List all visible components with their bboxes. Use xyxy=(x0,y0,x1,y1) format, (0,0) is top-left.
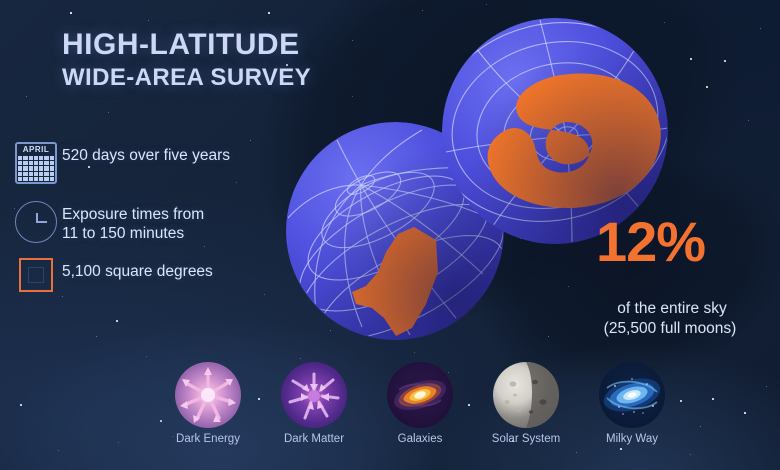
star xyxy=(268,12,270,14)
fact-row-duration: APRIL 520 days over five years xyxy=(10,142,310,184)
star xyxy=(70,12,72,14)
science-target-label: Solar System xyxy=(488,433,564,445)
star xyxy=(20,404,22,406)
star xyxy=(680,400,682,402)
science-target-dark-matter: Dark Matter xyxy=(276,362,352,445)
fact-icon-wrap xyxy=(10,258,62,292)
science-target-galaxies: Galaxies xyxy=(382,362,458,445)
star xyxy=(620,448,622,450)
infographic-canvas: HIGH-LATITUDE WIDE-AREA SURVEY APRIL 520… xyxy=(0,0,780,470)
fact-icon-wrap: APRIL xyxy=(10,142,62,184)
clock-icon xyxy=(15,201,57,243)
sky-coverage-subtitle: of the entire sky xyxy=(566,300,778,318)
page-title-line1: HIGH-LATITUDE xyxy=(62,30,300,60)
dark-matter-icon xyxy=(281,362,347,428)
science-target-label: Dark Matter xyxy=(276,433,352,445)
star xyxy=(744,412,746,414)
science-target-dark-energy: Dark Energy xyxy=(170,362,246,445)
fact-icon-wrap xyxy=(10,201,62,243)
sky-coverage-moons: (25,500 full moons) xyxy=(560,320,780,338)
science-target-solar-system: Solar System xyxy=(488,362,564,445)
fact-row-exposure: Exposure times from 11 to 150 minutes xyxy=(10,201,310,244)
science-targets-row: Dark Energy xyxy=(170,362,670,445)
fact-text-area: 5,100 square degrees xyxy=(62,258,213,281)
science-target-label: Galaxies xyxy=(382,433,458,445)
dark-energy-icon xyxy=(175,362,241,428)
fact-text-duration: 520 days over five years xyxy=(62,142,230,165)
fact-text-exposure: Exposure times from 11 to 150 minutes xyxy=(62,201,204,244)
star xyxy=(160,420,162,422)
square-icon xyxy=(19,258,53,292)
sky-coverage-percent: 12% xyxy=(596,214,705,270)
survey-facts-list: APRIL 520 days over five years xyxy=(10,142,310,309)
calendar-icon: APRIL xyxy=(15,142,57,184)
page-title-line2: WIDE-AREA SURVEY xyxy=(62,66,311,90)
solar-system-icon xyxy=(493,362,559,428)
star xyxy=(712,398,714,400)
fact-row-area: 5,100 square degrees xyxy=(10,258,310,292)
galaxies-icon xyxy=(387,362,453,428)
calendar-grid xyxy=(17,155,55,182)
milky-way-icon xyxy=(599,362,665,428)
science-target-milky-way: Milky Way xyxy=(594,362,670,445)
science-target-label: Milky Way xyxy=(594,433,670,445)
calendar-month-label: APRIL xyxy=(17,144,55,155)
star xyxy=(116,320,118,322)
science-target-label: Dark Energy xyxy=(170,433,246,445)
